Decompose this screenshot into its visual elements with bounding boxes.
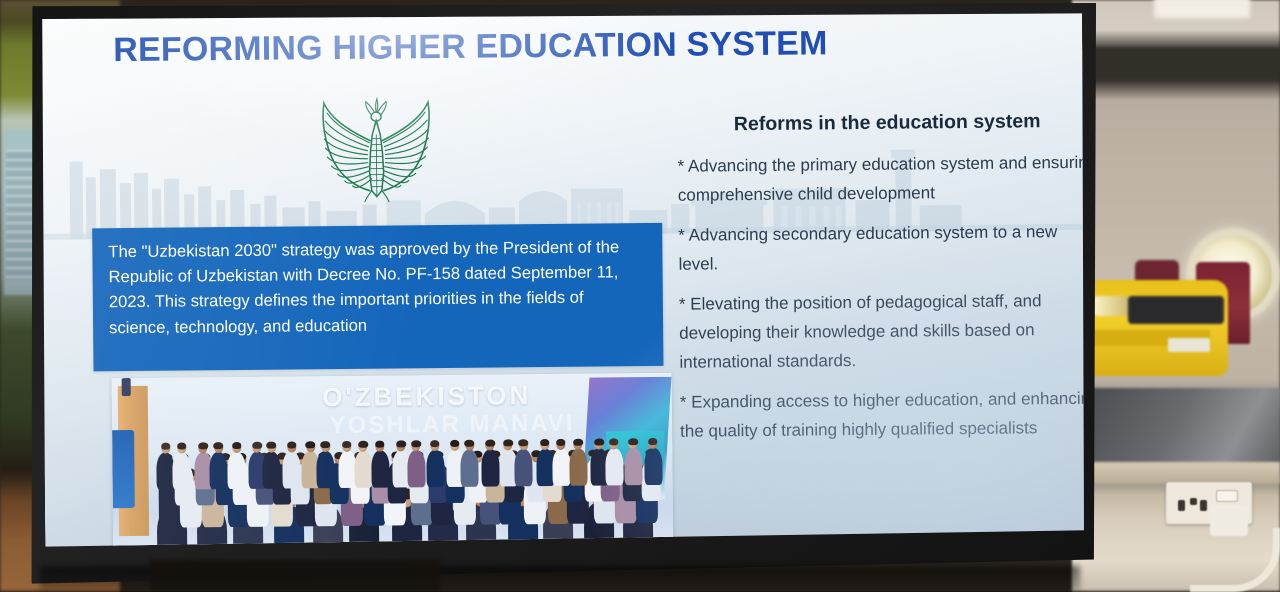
photo-person-head xyxy=(430,441,439,451)
photo-person-head xyxy=(412,442,421,452)
reform-bullet-3: * Elevating the position of pedagogical … xyxy=(679,286,1087,377)
socket-switch[interactable] xyxy=(1216,490,1238,502)
photo-person-hair xyxy=(320,441,330,448)
photo-person xyxy=(371,450,389,488)
photo-person-head xyxy=(629,439,638,449)
photo-person-hair xyxy=(503,439,513,446)
photo-person xyxy=(407,450,425,488)
display-stand xyxy=(150,560,440,591)
photo-person-hair xyxy=(267,442,277,449)
photo-person xyxy=(354,450,372,488)
photo-person-hair xyxy=(465,440,475,447)
socket-hole-right xyxy=(1200,500,1207,511)
reform-bullet-1: * Advancing the primary education system… xyxy=(677,148,1087,210)
photo-person-head xyxy=(321,442,330,452)
photo-person-hair xyxy=(411,440,421,447)
photo-person-head xyxy=(540,440,549,450)
photo-person-head xyxy=(486,441,495,451)
photo-person xyxy=(173,452,191,490)
reform-bullet-2: * Advancing secondary education system t… xyxy=(678,217,1087,279)
photo-person-head xyxy=(253,443,262,453)
photo-person-hair xyxy=(628,438,638,445)
photo-person xyxy=(552,448,570,486)
photo-person-hair xyxy=(519,439,529,446)
display-screen[interactable]: REFORMING HIGHER EDUCATION SYSTEM The "U… xyxy=(40,6,1087,550)
photo-person-hair xyxy=(306,441,316,448)
photo-banner-text: O'ZBEKISTON xyxy=(262,380,592,414)
photo-person xyxy=(228,451,246,489)
photo-person-hair xyxy=(161,443,171,450)
photo-person xyxy=(460,449,478,487)
presentation-slide[interactable]: REFORMING HIGHER EDUCATION SYSTEM The "U… xyxy=(40,6,1087,550)
photo-person-hair xyxy=(485,440,495,447)
photo-person-hair xyxy=(430,440,440,447)
ceiling-light xyxy=(1154,0,1250,18)
photo-person xyxy=(338,450,356,488)
photo-person-hair xyxy=(648,438,658,445)
photo-person-head xyxy=(267,443,276,453)
photo-person-hair xyxy=(556,439,566,446)
photo-person-hair xyxy=(252,442,262,449)
strategy-info-text: The "Uzbekistan 2030" strategy was appro… xyxy=(108,234,648,340)
vehicle-grille xyxy=(1128,296,1224,324)
photo-person-hair xyxy=(287,441,297,448)
photo-person-head xyxy=(287,443,296,453)
photo-person-head xyxy=(214,443,223,453)
photo-person xyxy=(263,451,281,489)
wall-display[interactable]: REFORMING HIGHER EDUCATION SYSTEM The "U… xyxy=(26,0,1102,586)
photo-person-hair xyxy=(214,442,224,449)
students-group-photo: O'ZBEKISTON YOSHLAR MANAVI xyxy=(112,373,674,550)
photo-person-head xyxy=(359,442,368,452)
photo-person-head xyxy=(177,444,186,454)
photo-person-head xyxy=(161,444,170,454)
socket-hole-top xyxy=(1190,498,1197,505)
photo-person-head xyxy=(397,442,406,452)
photo-person-hair xyxy=(342,441,352,448)
photo-person-hair xyxy=(609,438,619,445)
photo-person-hair xyxy=(540,439,550,446)
photo-crowd-row xyxy=(112,433,672,490)
photo-person-head xyxy=(519,441,528,451)
photo-person-hair xyxy=(358,441,368,448)
photo-person-head xyxy=(648,439,657,449)
photo-person xyxy=(481,449,499,487)
photo-person-head xyxy=(232,443,241,453)
photo-person-head xyxy=(465,441,474,451)
yellow-vehicle xyxy=(1088,280,1228,376)
reform-bullet-4: * Expanding access to higher education, … xyxy=(680,384,1087,446)
photo-person xyxy=(605,448,623,486)
photo-person-head xyxy=(595,440,604,450)
photo-person xyxy=(426,450,444,488)
photo-person xyxy=(283,451,301,489)
photo-person xyxy=(569,448,587,486)
vehicle-license-plate xyxy=(1168,338,1210,352)
corridor-floor xyxy=(1090,388,1280,466)
photo-person-hair xyxy=(573,439,583,446)
photo-person xyxy=(624,448,642,486)
slide-title: REFORMING HIGHER EDUCATION SYSTEM xyxy=(40,24,900,71)
photo-person-head xyxy=(450,441,459,451)
socket-hole-left xyxy=(1178,500,1185,511)
ceiling-beam xyxy=(1090,48,1280,78)
reforms-heading: Reforms in the education system xyxy=(677,110,1087,137)
photo-person-head xyxy=(199,444,208,454)
photo-person-head xyxy=(556,440,565,450)
photo-person-hair xyxy=(450,440,460,447)
photo-person xyxy=(209,452,227,490)
strategy-info-box: The "Uzbekistan 2030" strategy was appro… xyxy=(92,223,663,371)
photo-person xyxy=(316,451,334,489)
photo-person-head xyxy=(342,442,351,452)
photo-person-hair xyxy=(594,439,604,446)
photo-person-head xyxy=(375,442,384,452)
photo-person-head xyxy=(609,440,618,450)
photo-person-head xyxy=(573,440,582,450)
photo-person-head xyxy=(306,443,315,453)
photo-person-hair xyxy=(198,442,208,449)
uzbekistan-humo-bird-emblem xyxy=(313,90,440,203)
photo-person xyxy=(644,447,662,485)
photo-person xyxy=(514,449,532,487)
photo-person-head xyxy=(504,441,513,451)
photo-person-hair xyxy=(396,440,406,447)
reforms-column: Reforms in the education system * Advanc… xyxy=(677,110,1087,457)
wall-skirting xyxy=(1090,462,1280,484)
photo-person-hair xyxy=(177,443,187,450)
photo-flag-finial xyxy=(122,378,131,396)
photo-person-hair xyxy=(375,441,385,448)
photo-person-hair xyxy=(232,442,242,449)
